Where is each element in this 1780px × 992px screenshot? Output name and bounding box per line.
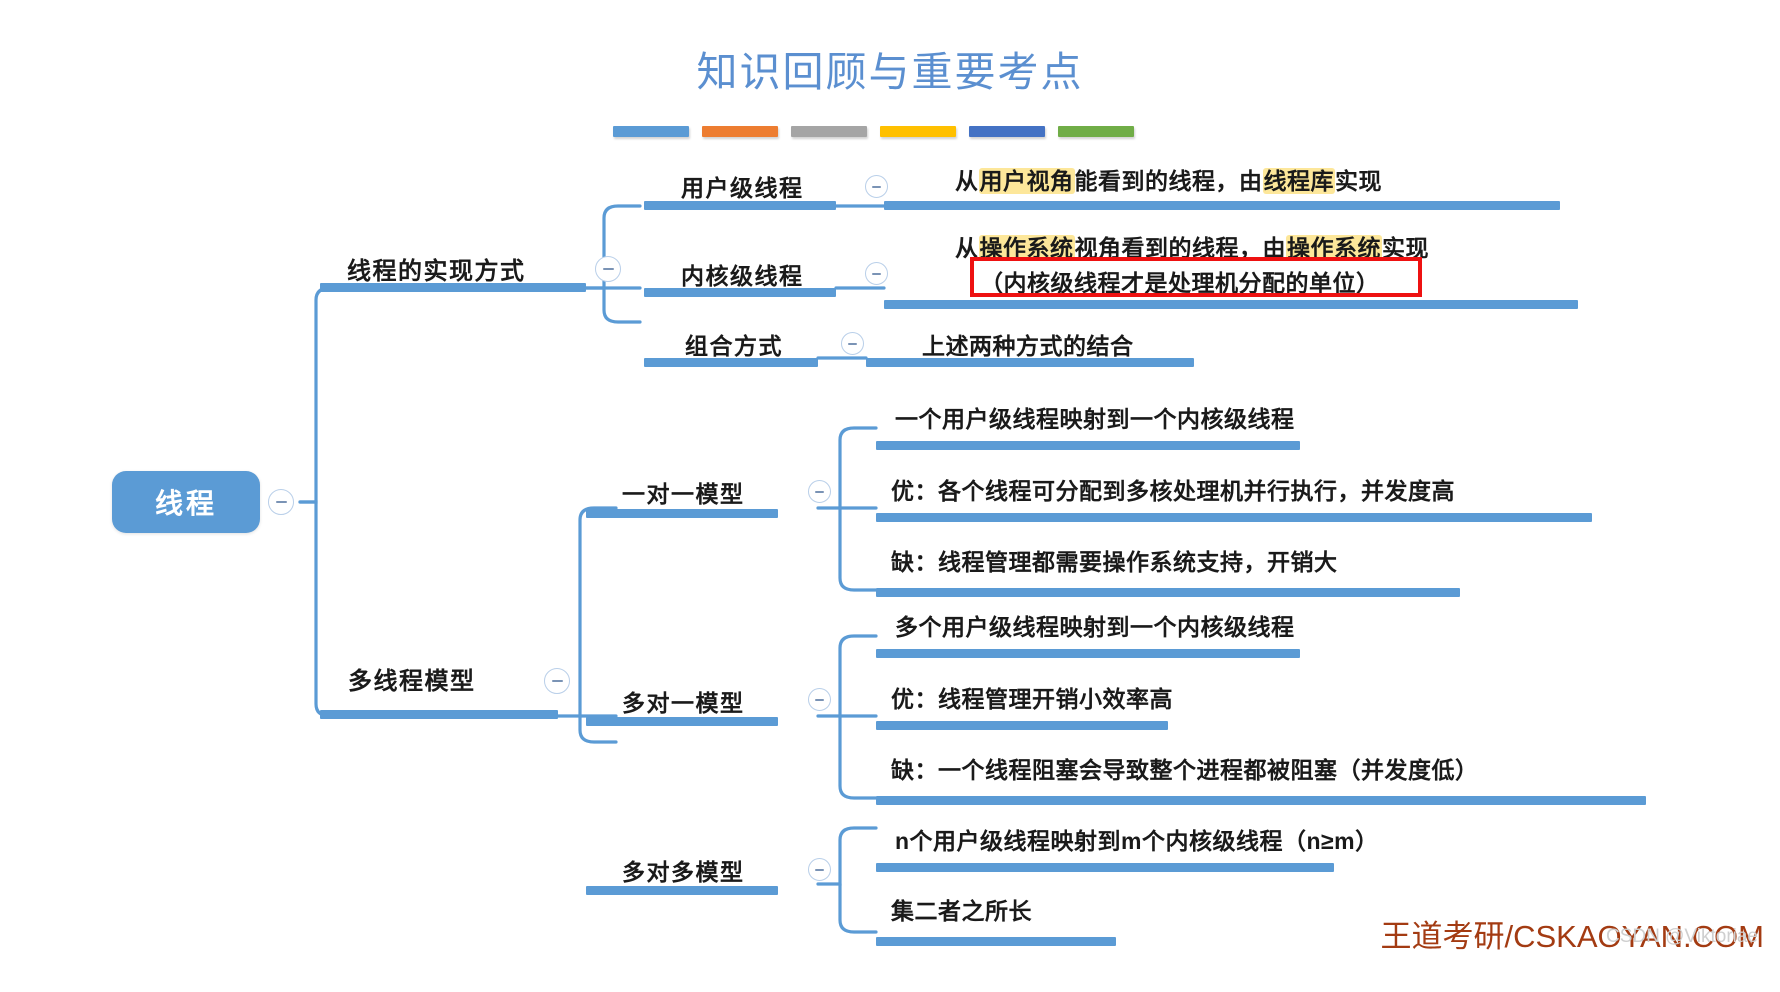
leaf-bar-many-to-one-1 — [876, 721, 1168, 730]
node-bar-user-thread — [644, 201, 836, 210]
leaf-bar-one-to-one-1 — [876, 513, 1592, 522]
branch-bar-models — [320, 710, 558, 719]
leaf-bar-many-to-one-2 — [876, 796, 1646, 805]
branch-collapse-models[interactable] — [544, 668, 570, 694]
node-bar-combined — [644, 358, 818, 367]
node-label-combined[interactable]: 组合方式 — [685, 335, 783, 358]
branch-collapse-impl[interactable] — [595, 256, 621, 282]
detail-user-thread-hl1: 用户视角 — [979, 168, 1075, 194]
leaf-bar-many-to-many-1 — [876, 937, 1116, 946]
detail-user-thread: 从用户视角能看到的线程，由线程库实现 — [955, 170, 1382, 193]
leaf-many-to-many-1: 集二者之所长 — [891, 900, 1032, 923]
detail-user-thread-mid: 能看到的线程，由 — [1075, 168, 1263, 194]
leaf-many-to-one-0: 多个用户级线程映射到一个内核级线程 — [895, 616, 1295, 639]
detail-bar-combined — [866, 358, 1194, 367]
node-bar-kernel-thread — [644, 288, 836, 297]
branch-label-impl[interactable]: 线程的实现方式 — [347, 260, 526, 284]
node-collapse-many-to-many[interactable] — [808, 858, 831, 881]
root-collapse-toggle[interactable] — [268, 489, 294, 515]
branch-label-models[interactable]: 多线程模型 — [348, 670, 476, 694]
leaf-bar-one-to-one-2 — [876, 588, 1460, 597]
emphasis-red-box — [970, 257, 1422, 297]
detail-user-thread-hl2: 线程库 — [1263, 168, 1336, 194]
node-label-kernel-thread[interactable]: 内核级线程 — [681, 265, 804, 288]
node-label-many-to-many[interactable]: 多对多模型 — [622, 861, 745, 884]
leaf-many-to-many-0: n个用户级线程映射到m个内核级线程（n≥m） — [895, 830, 1379, 853]
leaf-many-to-one-1: 优：线程管理开销小效率高 — [891, 688, 1173, 711]
detail-user-thread-post: 实现 — [1335, 168, 1382, 194]
leaf-bar-one-to-one-0 — [876, 441, 1300, 450]
branch-bar-impl — [320, 283, 586, 292]
node-collapse-combined[interactable] — [841, 332, 864, 355]
leaf-bar-many-to-many-0 — [876, 863, 1334, 872]
node-bar-many-to-one — [586, 717, 778, 726]
root-node-label: 线程 — [155, 482, 217, 522]
node-label-user-thread[interactable]: 用户级线程 — [681, 177, 804, 200]
leaf-bar-many-to-one-0 — [876, 649, 1300, 658]
detail-user-thread-pre: 从 — [955, 168, 979, 194]
node-collapse-many-to-one[interactable] — [808, 688, 831, 711]
node-bar-one-to-one — [586, 509, 778, 518]
node-label-one-to-one[interactable]: 一对一模型 — [622, 483, 745, 506]
node-label-many-to-one[interactable]: 多对一模型 — [622, 692, 745, 715]
detail-bar-user-thread — [884, 201, 1560, 210]
root-node[interactable]: 线程 — [112, 471, 260, 533]
mindmap-canvas: 知识回顾与重要考点 — [0, 0, 1780, 992]
connector-wires — [0, 0, 1780, 992]
watermark-csdn: CSDN @Viktoriae — [1606, 926, 1758, 948]
leaf-many-to-one-2: 缺：一个线程阻塞会导致整个进程都被阻塞（并发度低） — [891, 759, 1479, 782]
detail-bar-kernel-thread — [884, 300, 1578, 309]
leaf-one-to-one-2: 缺：线程管理都需要操作系统支持，开销大 — [891, 551, 1338, 574]
node-collapse-one-to-one[interactable] — [808, 480, 831, 503]
detail-combined: 上述两种方式的结合 — [922, 335, 1134, 358]
leaf-one-to-one-0: 一个用户级线程映射到一个内核级线程 — [895, 408, 1295, 431]
node-collapse-user-thread[interactable] — [865, 175, 888, 198]
node-bar-many-to-many — [586, 886, 778, 895]
node-collapse-kernel-thread[interactable] — [865, 262, 888, 285]
leaf-one-to-one-1: 优：各个线程可分配到多核处理机并行执行，并发度高 — [891, 480, 1455, 503]
